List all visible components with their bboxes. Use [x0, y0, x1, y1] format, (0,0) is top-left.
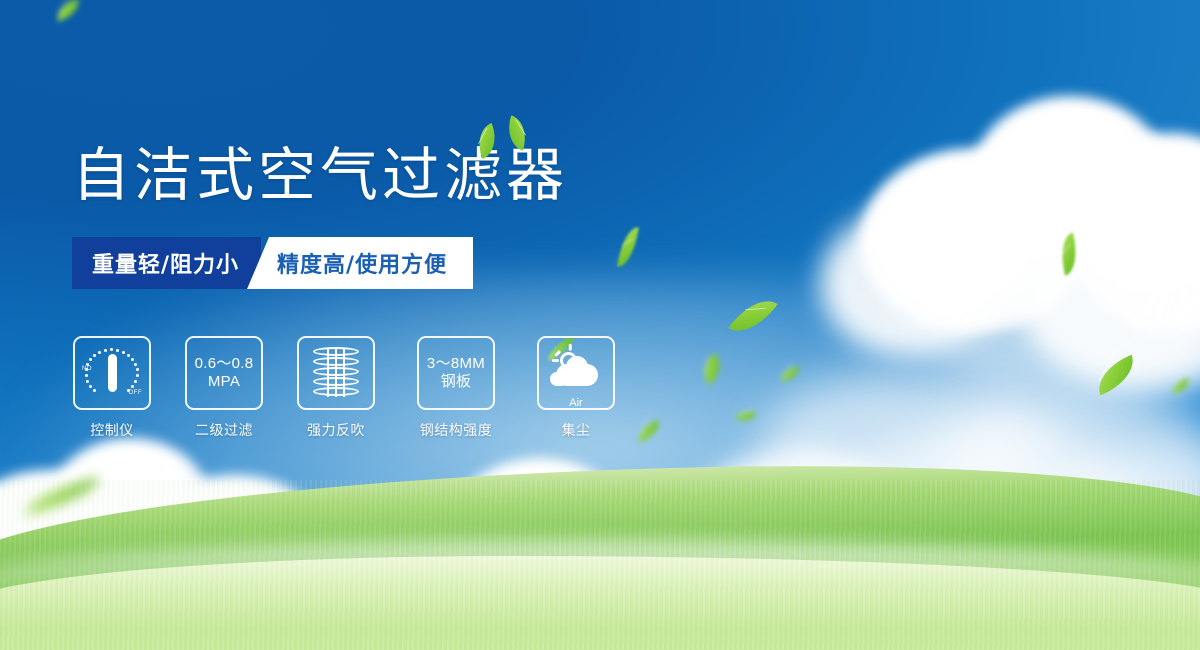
air-cloud-icon: Air — [548, 350, 604, 396]
hero-banner: 自洁式空气过滤器 重量轻/阻力小 精度高/使用方便 — [0, 0, 1200, 650]
feature-icon-box: Air — [537, 336, 615, 410]
gauge-icon: NO OFF — [83, 346, 141, 400]
tag-secondary: 精度高/使用方便 — [247, 237, 473, 289]
feature-item-dust[interactable]: Air 集尘 — [536, 336, 616, 440]
air-label: Air — [548, 397, 604, 409]
tag-primary: 重量轻/阻力小 — [72, 237, 261, 289]
feature-item-steel[interactable]: 3～8MM 钢板 钢结构强度 — [408, 336, 504, 440]
cloud-body-icon — [556, 364, 598, 386]
filter-stack-icon — [313, 347, 359, 399]
steel-material: 钢板 — [427, 373, 485, 391]
subtitle-tag-bar: 重量轻/阻力小 精度高/使用方便 — [72, 237, 473, 289]
feature-item-control[interactable]: NO OFF 控制仪 — [72, 336, 152, 440]
steel-plate-text-icon: 3～8MM 钢板 — [427, 355, 485, 391]
gauge-no-label: NO — [82, 366, 92, 372]
pressure-unit: MPA — [195, 373, 254, 391]
feature-label: 控制仪 — [90, 420, 134, 440]
feature-label: 二级过滤 — [195, 420, 253, 440]
feature-label: 集尘 — [562, 420, 591, 440]
sprout-leaf-right-icon — [502, 115, 532, 150]
pressure-value: 0.6～0.8 — [195, 355, 254, 372]
gauge-needle-icon — [108, 354, 117, 392]
gauge-off-label: OFF — [129, 390, 143, 396]
grass-texture — [0, 480, 1200, 650]
sprout-leaves-icon — [474, 110, 534, 160]
feature-list: NO OFF 控制仪 0.6～0.8 MPA 二级过滤 — [72, 336, 616, 440]
feature-icon-box — [297, 336, 375, 410]
pressure-text-icon: 0.6～0.8 MPA — [195, 355, 254, 391]
steel-thickness: 3～8MM — [427, 355, 485, 372]
feature-item-backblow[interactable]: 强力反吹 — [296, 336, 376, 440]
sprout-leaf-left-icon — [471, 123, 503, 159]
feature-icon-box: 3～8MM 钢板 — [417, 336, 495, 410]
feature-item-pressure[interactable]: 0.6～0.8 MPA 二级过滤 — [184, 336, 264, 440]
feature-icon-box: NO OFF — [73, 336, 151, 410]
feature-label: 钢结构强度 — [420, 420, 493, 440]
feature-label: 强力反吹 — [307, 420, 365, 440]
feature-icon-box: 0.6～0.8 MPA — [185, 336, 263, 410]
